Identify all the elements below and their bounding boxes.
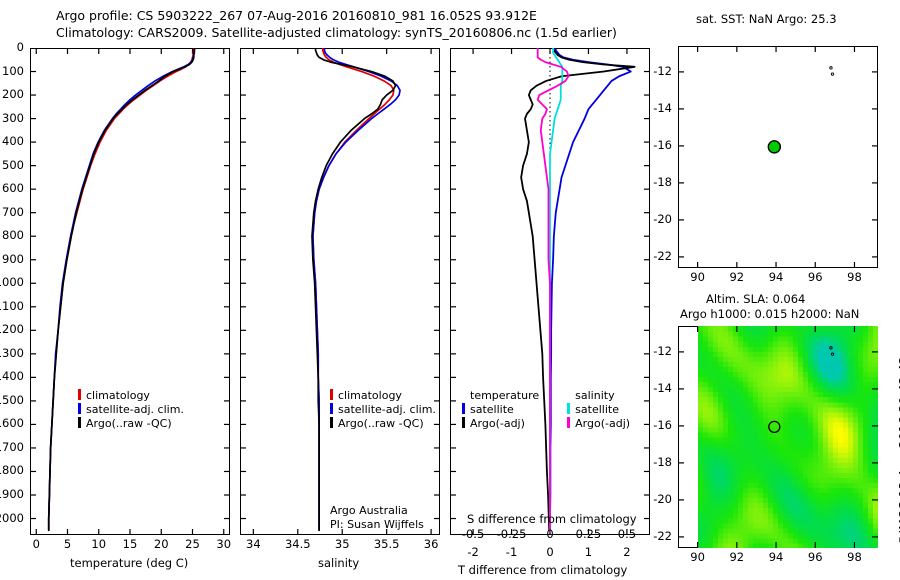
- sst-map-title: sat. SST: NaN Argo: 25.3: [696, 12, 837, 26]
- sst-map-ytick-label: -18: [653, 175, 672, 189]
- depth-tick-label: 1200: [0, 322, 24, 336]
- depth-tick-label: 1100: [0, 299, 24, 313]
- depth-tick-label: 0: [17, 40, 24, 54]
- sla-map-xtick-label: 96: [808, 550, 823, 564]
- legend-color-swatch-icon: [330, 417, 333, 428]
- legend-label: Argo(-adj): [470, 417, 525, 430]
- depth-tick-label: 1400: [0, 369, 24, 383]
- sst-map-profile-marker[interactable]: [768, 141, 780, 153]
- sst-map-xtick-label: 90: [690, 270, 705, 284]
- legend-label: climatology: [86, 389, 150, 402]
- legend-label: Argo(..raw -QC): [86, 417, 172, 430]
- sst-map-ytick-label: -12: [653, 64, 672, 78]
- depth-tick-label: 200: [2, 87, 24, 101]
- temperature-xtick-label: 0: [33, 537, 40, 551]
- temperature-xaxis-label: temperature (deg C): [70, 556, 188, 570]
- legend-label: satellite-adj. clim.: [86, 403, 184, 416]
- sst-map-ytick-label: -14: [653, 101, 672, 115]
- difference-top-tick-label: -0.5: [462, 527, 484, 541]
- difference-top-axis-label: S difference from climatology: [467, 512, 637, 526]
- temperature-xtick-label: 30: [216, 537, 231, 551]
- sst-map-yaxis-ticklabels: -12-14-16-18-20-22: [648, 46, 676, 268]
- depth-tick-label: 300: [2, 111, 24, 125]
- difference-salinity-legend-item: Argo(-adj): [567, 417, 630, 431]
- difference-temperature-legend-item: Argo(-adj): [462, 417, 539, 431]
- difference-xtick-label: 0: [546, 545, 553, 559]
- depth-tick-label: 1500: [0, 393, 24, 407]
- legend-label: satellite: [575, 403, 619, 416]
- sla-map-ytick-label: -12: [653, 344, 672, 358]
- legend-color-swatch-icon: [462, 417, 465, 428]
- difference-salinity-legend-item: satellite: [567, 403, 630, 417]
- salinity-xaxis-label: salinity: [318, 556, 359, 570]
- temperature-xtick-label: 15: [123, 537, 138, 551]
- sla-heatmap-field: [698, 326, 878, 548]
- temperature-legend-item: climatology: [78, 389, 184, 403]
- difference-xtick-label: -1: [506, 545, 517, 559]
- legend-color-swatch-icon: [330, 403, 333, 414]
- difference-legend: temperaturesatelliteArgo(-adj)salinitysa…: [462, 389, 630, 431]
- salinity-legend-item: climatology: [330, 389, 436, 403]
- difference-top-tick-label: 0.5: [618, 527, 636, 541]
- difference-top-tick-label: -0.25: [497, 527, 527, 541]
- sst-map-xtick-label: 92: [729, 270, 744, 284]
- depth-tick-label: 100: [2, 64, 24, 78]
- imos-credit: ©IMOS 13-Aug-2016 20:42:42: [896, 356, 900, 546]
- legend-color-swatch-icon: [78, 403, 81, 414]
- temperature-legend-item: satellite-adj. clim.: [78, 403, 184, 417]
- attribution-line1: Argo Australia: [330, 504, 408, 518]
- page-title-line2: Climatology: CARS2009. Satellite-adjuste…: [56, 25, 617, 40]
- salinity-legend: climatologysatellite-adj. clim.Argo(..ra…: [330, 389, 436, 431]
- temperature-legend: climatologysatellite-adj. clim.Argo(..ra…: [78, 389, 184, 431]
- depth-tick-label: 700: [2, 205, 24, 219]
- legend-label: satellite-adj. clim.: [338, 403, 436, 416]
- temperature-xtick-label: 20: [154, 537, 169, 551]
- sla-map-title-line1: Altim. SLA: 0.064: [706, 292, 805, 306]
- temperature-xtick-label: 10: [91, 537, 106, 551]
- depth-tick-label: 600: [2, 181, 24, 195]
- legend-color-swatch-icon: [462, 403, 465, 414]
- salinity-profile-plot: [240, 48, 440, 535]
- temperature-xtick-label: 25: [185, 537, 200, 551]
- sst-map-xtick-label: 96: [808, 270, 823, 284]
- legend-label: Argo(-adj): [575, 417, 630, 430]
- salinity-xtick-label: 36: [424, 537, 439, 551]
- salinity-legend-item: satellite-adj. clim.: [330, 403, 436, 417]
- sla-map-ytick-label: -14: [653, 381, 672, 395]
- temperature-xtick-label: 5: [64, 537, 71, 551]
- salinity-xtick-label: 35: [335, 537, 350, 551]
- depth-tick-label: 1300: [0, 346, 24, 360]
- depth-tick-label: 1000: [0, 275, 24, 289]
- depth-tick-label: 2000: [0, 511, 24, 525]
- depth-tick-label: 1700: [0, 440, 24, 454]
- depth-tick-label: 1600: [0, 416, 24, 430]
- difference-top-tick-label: 0.25: [576, 527, 602, 541]
- legend-label: climatology: [338, 389, 402, 402]
- sla-map-plot[interactable]: [678, 326, 878, 548]
- legend-label: satellite: [470, 403, 514, 416]
- sla-map-yaxis-ticklabels: -12-14-16-18-20-22: [648, 326, 676, 548]
- attribution-line2: PI: Susan Wijffels: [330, 518, 424, 532]
- difference-xtick-label: -2: [467, 545, 478, 559]
- difference-top-tick-label: 0: [546, 527, 553, 541]
- depth-tick-label: 500: [2, 158, 24, 172]
- difference-profile-plot: [450, 48, 650, 535]
- temperature-legend-item: Argo(..raw -QC): [78, 417, 184, 431]
- sst-map-ytick-label: -16: [653, 138, 672, 152]
- legend-label: Argo(..raw -QC): [338, 417, 424, 430]
- difference-xtick-label: 1: [585, 545, 592, 559]
- temperature-profile-plot: [30, 48, 230, 535]
- salinity-legend-item: Argo(..raw -QC): [330, 417, 436, 431]
- legend-color-swatch-icon: [567, 403, 570, 414]
- depth-tick-label: 1900: [0, 487, 24, 501]
- legend-color-swatch-icon: [78, 389, 81, 400]
- sla-map-ytick-label: -20: [653, 492, 672, 506]
- sla-map-title-line2: Argo h1000: 0.015 h2000: NaN: [680, 307, 859, 321]
- sla-map-xtick-label: 98: [847, 550, 862, 564]
- temperature-yaxis-ticklabels: 0100200300400500600700800900100011001200…: [0, 48, 28, 535]
- page-title-line1: Argo profile: CS 5903222_267 07-Aug-2016…: [56, 8, 537, 23]
- difference-legend-header: temperature: [462, 389, 539, 403]
- salinity-xtick-label: 35.5: [374, 537, 400, 551]
- legend-color-swatch-icon: [567, 417, 570, 428]
- sst-map-ytick-label: -22: [653, 249, 672, 263]
- depth-tick-label: 400: [2, 134, 24, 148]
- sst-map-xtick-label: 98: [847, 270, 862, 284]
- depth-tick-label: 800: [2, 228, 24, 242]
- sst-map-xtick-label: 94: [769, 270, 784, 284]
- depth-tick-label: 900: [2, 252, 24, 266]
- depth-tick-label: 1800: [0, 463, 24, 477]
- sla-map-ytick-label: -18: [653, 455, 672, 469]
- sla-map-ytick-label: -16: [653, 418, 672, 432]
- difference-xtick-label: 2: [623, 545, 630, 559]
- salinity-xtick-label: 34.5: [285, 537, 311, 551]
- sla-map-ytick-label: -22: [653, 529, 672, 543]
- difference-temperature-legend-item: satellite: [462, 403, 539, 417]
- sst-map-plot[interactable]: [678, 46, 878, 268]
- difference-xaxis-label: T difference from climatology: [458, 563, 627, 577]
- salinity-xtick-label: 34: [246, 537, 261, 551]
- sst-map-ytick-label: -20: [653, 212, 672, 226]
- sla-map-xtick-label: 90: [690, 550, 705, 564]
- difference-legend-header: salinity: [567, 389, 630, 403]
- sla-map-xtick-label: 94: [769, 550, 784, 564]
- sla-map-xtick-label: 92: [729, 550, 744, 564]
- legend-color-swatch-icon: [330, 389, 333, 400]
- legend-color-swatch-icon: [78, 417, 81, 428]
